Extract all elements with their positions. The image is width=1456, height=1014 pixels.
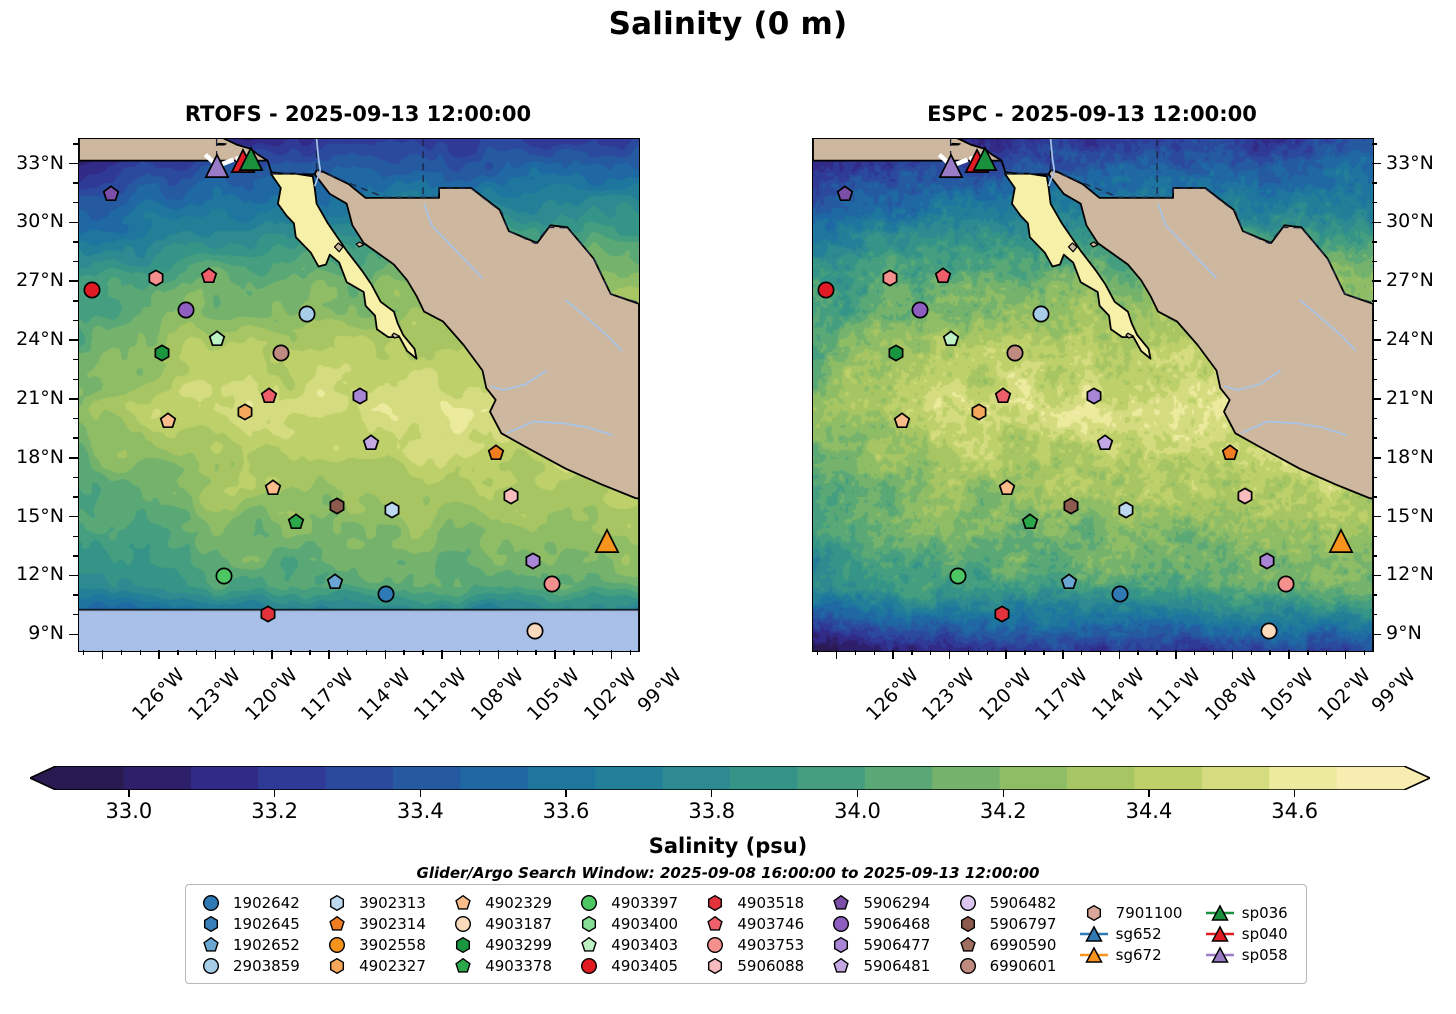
lon-tick-label: 108°W: [1201, 664, 1262, 725]
legend-marker-icon: [1079, 903, 1109, 923]
lat-minor-tick: [73, 536, 78, 537]
lat-tick: [1372, 457, 1381, 459]
lat-minor-tick: [73, 300, 78, 301]
lon-minor-tick: [1364, 650, 1365, 655]
legend-marker-icon: [322, 893, 352, 913]
platform-marker-4903518[interactable]: [993, 605, 1010, 622]
platform-marker-3902313[interactable]: [383, 501, 400, 518]
platform-marker-sg672[interactable]: [595, 529, 619, 553]
lon-tick-label: 114°W: [1088, 664, 1149, 725]
legend-item-label: 6990590: [990, 936, 1057, 954]
legend-item-label: 4902327: [359, 957, 426, 975]
legend-item-label: sg672: [1116, 946, 1162, 964]
lon-minor-tick: [1043, 650, 1044, 655]
lat-tick-label: 33°N: [1386, 152, 1434, 174]
legend-column: sp036 sp040 sp058: [1205, 903, 1296, 966]
figure-title: Salinity (0 m): [0, 6, 1456, 42]
colorbar-tick: [857, 790, 858, 797]
lat-tick-label: 15°N: [1386, 505, 1434, 527]
legend-marker-icon: [1205, 924, 1235, 944]
lon-minor-tick: [422, 650, 423, 655]
lon-tick-label: 102°W: [1314, 664, 1375, 725]
legend-marker-icon: [953, 956, 983, 976]
lon-tick: [328, 650, 330, 659]
lon-tick-label: 114°W: [354, 664, 415, 725]
legend-item-4903187[interactable]: 4903187: [448, 913, 560, 934]
platform-marker-4903397[interactable]: [216, 568, 233, 585]
lon-minor-tick: [911, 650, 912, 655]
colorbar-tick: [1294, 790, 1295, 797]
platform-marker-4902329[interactable]: [159, 413, 176, 430]
legend-item-7901100[interactable]: 7901100: [1079, 903, 1191, 924]
legend-marker-icon: [196, 893, 226, 913]
legend-marker-icon: [700, 914, 730, 934]
platform-marker-4903299[interactable]: [153, 344, 170, 361]
colorbar-tick-label: 34.6: [1271, 799, 1318, 823]
lon-tick: [498, 650, 500, 659]
lon-minor-tick: [83, 650, 84, 655]
platform-marker-5906477[interactable]: [351, 387, 368, 404]
colorbar: [30, 766, 1430, 790]
lat-tick: [69, 457, 78, 459]
lon-tick-label: 105°W: [523, 664, 584, 725]
lat-tick-label: 21°N: [0, 387, 64, 409]
lat-minor-tick: [73, 594, 78, 595]
platform-marker-1902642[interactable]: [378, 586, 395, 603]
legend-item-label: 1902645: [233, 915, 300, 933]
legend-item-label: 5906294: [863, 894, 930, 912]
platform-marker-5906481[interactable]: [363, 435, 380, 452]
legend-item-label: 5906088: [737, 957, 804, 975]
lon-minor-tick: [1194, 650, 1195, 655]
lon-minor-tick: [855, 650, 856, 655]
legend-item-label: 1902652: [233, 936, 300, 954]
legend-item-label: 4903397: [611, 894, 678, 912]
legend-item-label: sp036: [1242, 904, 1288, 922]
legend-item-label: 4903187: [485, 915, 552, 933]
lat-minor-tick: [1372, 261, 1377, 262]
legend-marker-icon: [448, 893, 478, 913]
platform-marker-6990601[interactable]: [272, 344, 289, 361]
platform-marker-4903746[interactable]: [935, 268, 952, 285]
lat-tick: [69, 339, 78, 341]
platform-marker-2903859[interactable]: [1033, 305, 1050, 322]
platform-marker-sg672[interactable]: [1329, 529, 1353, 553]
legend-item-label: 5906481: [863, 957, 930, 975]
legend-item-4903299[interactable]: 4903299: [448, 934, 560, 955]
lat-minor-tick: [1372, 300, 1377, 301]
legend-column: 4903518490374649037535906088: [700, 892, 812, 976]
legend-marker-icon: [826, 893, 856, 913]
lat-minor-tick: [73, 437, 78, 438]
legend-item-5906468[interactable]: 5906468: [826, 913, 938, 934]
legend-marker-icon: [322, 956, 352, 976]
platform-marker-5906477b[interactable]: [525, 552, 542, 569]
lat-tick-label: 15°N: [0, 505, 64, 527]
platform-marker-4902329b[interactable]: [999, 480, 1016, 497]
colorbar-tick-label: 34.0: [834, 799, 881, 823]
legend-item-label: 4903405: [611, 957, 678, 975]
platform-marker-5906294[interactable]: [837, 185, 854, 202]
lon-minor-tick: [403, 650, 404, 655]
lon-minor-tick: [1100, 650, 1101, 655]
platform-marker-sp058[interactable]: [205, 154, 229, 178]
legend-item-2903859[interactable]: 2903859: [196, 955, 308, 976]
legend-item-label: sp040: [1242, 925, 1288, 943]
colorbar-tick: [420, 790, 421, 797]
legend-item-4902327[interactable]: 4902327: [322, 955, 434, 976]
platform-marker-4903746b[interactable]: [995, 387, 1012, 404]
platform-marker-4903403[interactable]: [208, 331, 225, 348]
platform-marker-4903405[interactable]: [84, 282, 101, 299]
lon-minor-tick: [573, 650, 574, 655]
lat-minor-tick: [1372, 143, 1377, 144]
lon-minor-tick: [196, 650, 197, 655]
lon-tick-label: 120°W: [975, 664, 1036, 725]
lon-tick: [1232, 650, 1234, 659]
platform-marker-4903746[interactable]: [201, 268, 218, 285]
colorbar-tick-label: 34.4: [1126, 799, 1173, 823]
colorbar-tick: [1148, 790, 1149, 797]
platform-marker-5906088[interactable]: [1236, 488, 1253, 505]
lon-tick: [215, 650, 217, 659]
lon-tick-label: 102°W: [580, 664, 641, 725]
legend-item-label: sp058: [1242, 946, 1288, 964]
platform-marker-4903378[interactable]: [1021, 513, 1038, 530]
legend-marker-icon: [448, 914, 478, 934]
figure-root: Salinity (0 m) RTOFS - 2025-09-13 12:00:…: [0, 0, 1456, 1014]
colorbar-tick: [565, 790, 566, 797]
platform-marker-sp036[interactable]: [239, 147, 263, 171]
legend-marker-icon: [196, 935, 226, 955]
legend-marker-icon: [574, 914, 604, 934]
lat-tick-label: 18°N: [1386, 446, 1434, 468]
legend-column: 5906482590679769905906990601: [953, 892, 1065, 976]
legend-marker-icon: [953, 914, 983, 934]
lat-tick: [1372, 575, 1381, 577]
lat-minor-tick: [73, 143, 78, 144]
lon-tick: [385, 650, 387, 659]
platform-marker-5906294[interactable]: [103, 185, 120, 202]
legend-item-label: 4903299: [485, 936, 552, 954]
lat-minor-tick: [73, 182, 78, 183]
lon-minor-tick: [535, 650, 536, 655]
lon-tick-label: 123°W: [184, 664, 245, 725]
platform-marker-3902314[interactable]: [487, 444, 504, 461]
lat-tick-label: 30°N: [1386, 210, 1434, 232]
legend-marker-icon: [322, 914, 352, 934]
legend-item-4903403[interactable]: 4903403: [574, 934, 686, 955]
lon-minor-tick: [874, 650, 875, 655]
legend-item-5906477[interactable]: 5906477: [826, 934, 938, 955]
lon-minor-tick: [1269, 650, 1270, 655]
legend-item-label: 2903859: [233, 957, 300, 975]
legend-item-4903518[interactable]: 4903518: [700, 892, 812, 913]
legend-item-4903397[interactable]: 4903397: [574, 892, 686, 913]
lon-tick-label: 123°W: [918, 664, 979, 725]
lon-tick: [1062, 650, 1064, 659]
lon-minor-tick: [592, 650, 593, 655]
legend-marker-icon: [1205, 945, 1235, 965]
legend-item-4903400[interactable]: 4903400: [574, 913, 686, 934]
lat-minor-tick: [1372, 320, 1377, 321]
platform-marker-4902329b[interactable]: [265, 480, 282, 497]
lat-minor-tick: [73, 418, 78, 419]
lat-minor-tick: [73, 261, 78, 262]
lon-minor-tick: [253, 650, 254, 655]
colorbar-gradient: [30, 766, 1430, 790]
lon-minor-tick: [121, 650, 122, 655]
legend-item-5906481[interactable]: 5906481: [826, 955, 938, 976]
legend-item-4903753[interactable]: 4903753: [700, 934, 812, 955]
lat-minor-tick: [73, 202, 78, 203]
lon-tick: [158, 650, 160, 659]
legend-column: 4902329490318749032994903378: [448, 892, 560, 976]
lat-tick: [69, 575, 78, 577]
lon-tick-label: 99°W: [1367, 664, 1420, 717]
legend-item-label: 3902558: [359, 936, 426, 954]
lat-tick: [69, 516, 78, 518]
platform-marker-1902652[interactable]: [1061, 574, 1078, 591]
lat-minor-tick: [1372, 477, 1377, 478]
lat-tick: [69, 280, 78, 282]
lat-tick: [69, 634, 78, 636]
lat-minor-tick: [73, 555, 78, 556]
lat-minor-tick: [1372, 594, 1377, 595]
legend-item-sp040[interactable]: sp040: [1205, 924, 1296, 945]
lat-minor-tick: [1372, 359, 1377, 360]
lon-tick-label: 126°W: [127, 664, 188, 725]
lat-tick: [69, 222, 78, 224]
platform-marker-4903187[interactable]: [527, 623, 544, 640]
platform-marker-5906481[interactable]: [1097, 435, 1114, 452]
lon-minor-tick: [1326, 650, 1327, 655]
platform-marker-4903299[interactable]: [887, 344, 904, 361]
colorbar-tick-label: 33.4: [397, 799, 444, 823]
legend-item-sp058[interactable]: sp058: [1205, 945, 1296, 966]
lat-tick-label: 9°N: [1386, 622, 1422, 644]
legend-item-1902652[interactable]: 1902652: [196, 934, 308, 955]
legend-item-4903746[interactable]: 4903746: [700, 913, 812, 934]
legend-item-5906294[interactable]: 5906294: [826, 892, 938, 913]
lon-tick: [1288, 650, 1290, 659]
legend-item-label: 7901100: [1116, 904, 1183, 922]
platform-marker-4903378[interactable]: [287, 513, 304, 530]
lon-minor-tick: [309, 650, 310, 655]
legend-column: 3902313390231439025584902327: [322, 892, 434, 976]
platform-marker-4903753b[interactable]: [1278, 576, 1295, 593]
legend-item-3902313[interactable]: 3902313: [322, 892, 434, 913]
lon-tick-label: 111°W: [1144, 664, 1205, 725]
lat-tick-label: 33°N: [0, 152, 64, 174]
legend-item-5906088[interactable]: 5906088: [700, 955, 812, 976]
legend-item-label: 4903518: [737, 894, 804, 912]
lat-minor-tick: [1372, 241, 1377, 242]
legend-item-3902314[interactable]: 3902314: [322, 913, 434, 934]
legend-marker-icon: [700, 956, 730, 976]
lon-tick: [554, 650, 556, 659]
legend-item-label: 4903746: [737, 915, 804, 933]
platform-marker-4903405[interactable]: [818, 282, 835, 299]
platform-marker-5906468[interactable]: [178, 301, 195, 318]
legend-column: 7901100 sg652 sg672: [1079, 903, 1191, 966]
lat-tick-label: 24°N: [1386, 328, 1434, 350]
legend-marker-icon: [953, 935, 983, 955]
legend-marker-icon: [196, 914, 226, 934]
lon-minor-tick: [987, 650, 988, 655]
legend-item-label: 4903403: [611, 936, 678, 954]
legend-item-6990590[interactable]: 6990590: [953, 934, 1065, 955]
lat-tick: [69, 163, 78, 165]
lon-tick-label: 120°W: [241, 664, 302, 725]
legend-item-3902558[interactable]: 3902558: [322, 934, 434, 955]
lon-tick: [441, 650, 443, 659]
lon-minor-tick: [1307, 650, 1308, 655]
platform-marker-4903397[interactable]: [950, 568, 967, 585]
platform-marker-4902329[interactable]: [893, 413, 910, 430]
lon-tick-label: 126°W: [861, 664, 922, 725]
map-panel-espc[interactable]: [812, 138, 1374, 652]
lon-tick: [836, 650, 838, 659]
lat-minor-tick: [73, 241, 78, 242]
legend-item-label: 5906797: [990, 915, 1057, 933]
legend-marker-icon: [574, 956, 604, 976]
lon-tick: [1005, 650, 1007, 659]
platform-marker-sp058[interactable]: [939, 154, 963, 178]
platform-marker-2903859[interactable]: [299, 305, 316, 322]
platform-marker-sp036[interactable]: [973, 147, 997, 171]
legend-item-sg672[interactable]: sg672: [1079, 945, 1191, 966]
lon-minor-tick: [1213, 650, 1214, 655]
legend-item-4903378[interactable]: 4903378: [448, 955, 560, 976]
lat-tick: [1372, 163, 1381, 165]
legend-item-label: 3902314: [359, 915, 426, 933]
lon-minor-tick: [930, 650, 931, 655]
legend-column: 1902642190264519026522903859: [196, 892, 308, 976]
platform-marker-5906797[interactable]: [329, 497, 346, 514]
legend-item-label: 5906482: [990, 894, 1057, 912]
platform-marker-4903403[interactable]: [942, 331, 959, 348]
platform-marker-6990601[interactable]: [1006, 344, 1023, 361]
lat-tick-label: 12°N: [0, 563, 64, 585]
legend-item-4902329[interactable]: 4902329: [448, 892, 560, 913]
lat-minor-tick: [1372, 182, 1377, 183]
lat-tick-label: 27°N: [0, 269, 64, 291]
platform-marker-5906797[interactable]: [1063, 497, 1080, 514]
legend-marker-icon: [1205, 903, 1235, 923]
platform-marker-4903753[interactable]: [148, 270, 165, 287]
legend-item-label: 5906468: [863, 915, 930, 933]
map-panel-rtofs[interactable]: [78, 138, 640, 652]
lat-minor-tick: [1372, 202, 1377, 203]
lon-minor-tick: [1251, 650, 1252, 655]
legend-marker-icon: [448, 956, 478, 976]
lon-tick: [1175, 650, 1177, 659]
lon-tick-label: 117°W: [297, 664, 358, 725]
legend-marker-icon: [826, 935, 856, 955]
platform-marker-1902642[interactable]: [1112, 586, 1129, 603]
platform-marker-4903753[interactable]: [882, 270, 899, 287]
lon-minor-tick: [140, 650, 141, 655]
lon-minor-tick: [1081, 650, 1082, 655]
lat-tick-label: 30°N: [0, 210, 64, 232]
colorbar-tick: [128, 790, 129, 797]
platform-marker-3902314[interactable]: [1221, 444, 1238, 461]
platform-marker-4903746b[interactable]: [261, 387, 278, 404]
legend-item-sg652[interactable]: sg652: [1079, 924, 1191, 945]
legend-marker-icon: [953, 893, 983, 913]
legend-item-1902642[interactable]: 1902642: [196, 892, 308, 913]
colorbar-title: Salinity (psu): [0, 834, 1456, 858]
colorbar-tick-label: 34.2: [980, 799, 1027, 823]
legend-item-label: 6990601: [990, 957, 1057, 975]
legend-item-6990601[interactable]: 6990601: [953, 955, 1065, 976]
legend-column: 5906294590646859064775906481: [826, 892, 938, 976]
legend-item-label: sg652: [1116, 925, 1162, 943]
lon-minor-tick: [366, 650, 367, 655]
legend-item-sp036[interactable]: sp036: [1205, 903, 1296, 924]
colorbar-swatches: [30, 766, 1430, 790]
colorbar-tick-label: 33.0: [105, 799, 152, 823]
lon-minor-tick: [290, 650, 291, 655]
lon-minor-tick: [517, 650, 518, 655]
lat-tick: [1372, 222, 1381, 224]
legend-item-5906797[interactable]: 5906797: [953, 913, 1065, 934]
platform-marker-4902327[interactable]: [970, 403, 987, 420]
legend-marker-icon: [448, 935, 478, 955]
legend-item-label: 4903378: [485, 957, 552, 975]
lat-minor-tick: [73, 359, 78, 360]
lon-minor-tick: [1137, 650, 1138, 655]
platform-marker-3902313[interactable]: [1117, 501, 1134, 518]
lat-minor-tick: [1372, 555, 1377, 556]
legend-item-1902645[interactable]: 1902645: [196, 913, 308, 934]
lon-tick-label: 117°W: [1031, 664, 1092, 725]
lon-minor-tick: [177, 650, 178, 655]
legend-item-label: 4903753: [737, 936, 804, 954]
platform-marker-1902652[interactable]: [327, 574, 344, 591]
lon-minor-tick: [460, 650, 461, 655]
lon-minor-tick: [630, 650, 631, 655]
legend-item-label: 4903400: [611, 915, 678, 933]
platform-marker-4902327[interactable]: [236, 403, 253, 420]
lon-tick-label: 105°W: [1257, 664, 1318, 725]
colorbar-tick: [274, 790, 275, 797]
legend-item-4903405[interactable]: 4903405: [574, 955, 686, 976]
platform-marker-4903518[interactable]: [259, 605, 276, 622]
legend-marker-icon: [826, 914, 856, 934]
legend-marker-icon: [574, 893, 604, 913]
platform-marker-5906477b[interactable]: [1259, 552, 1276, 569]
platform-marker-5906468[interactable]: [912, 301, 929, 318]
platform-legend: 1902642190264519026522903859390231339023…: [185, 884, 1307, 984]
legend-marker-icon: [826, 956, 856, 976]
legend-item-5906482[interactable]: 5906482: [953, 892, 1065, 913]
platform-marker-5906477[interactable]: [1085, 387, 1102, 404]
lon-tick-label: 111°W: [410, 664, 471, 725]
lat-minor-tick: [73, 496, 78, 497]
lon-tick: [271, 650, 273, 659]
legend-marker-icon: [574, 935, 604, 955]
colorbar-tick-label: 33.6: [543, 799, 590, 823]
legend-marker-icon: [1079, 924, 1109, 944]
lon-tick-label: 99°W: [633, 664, 686, 717]
platform-marker-5906088[interactable]: [502, 488, 519, 505]
legend-column: 4903397490340049034034903405: [574, 892, 686, 976]
search-window-note: Glider/Argo Search Window: 2025-09-08 16…: [0, 864, 1456, 882]
platform-marker-4903753b[interactable]: [544, 576, 561, 593]
platform-marker-4903187[interactable]: [1261, 623, 1278, 640]
